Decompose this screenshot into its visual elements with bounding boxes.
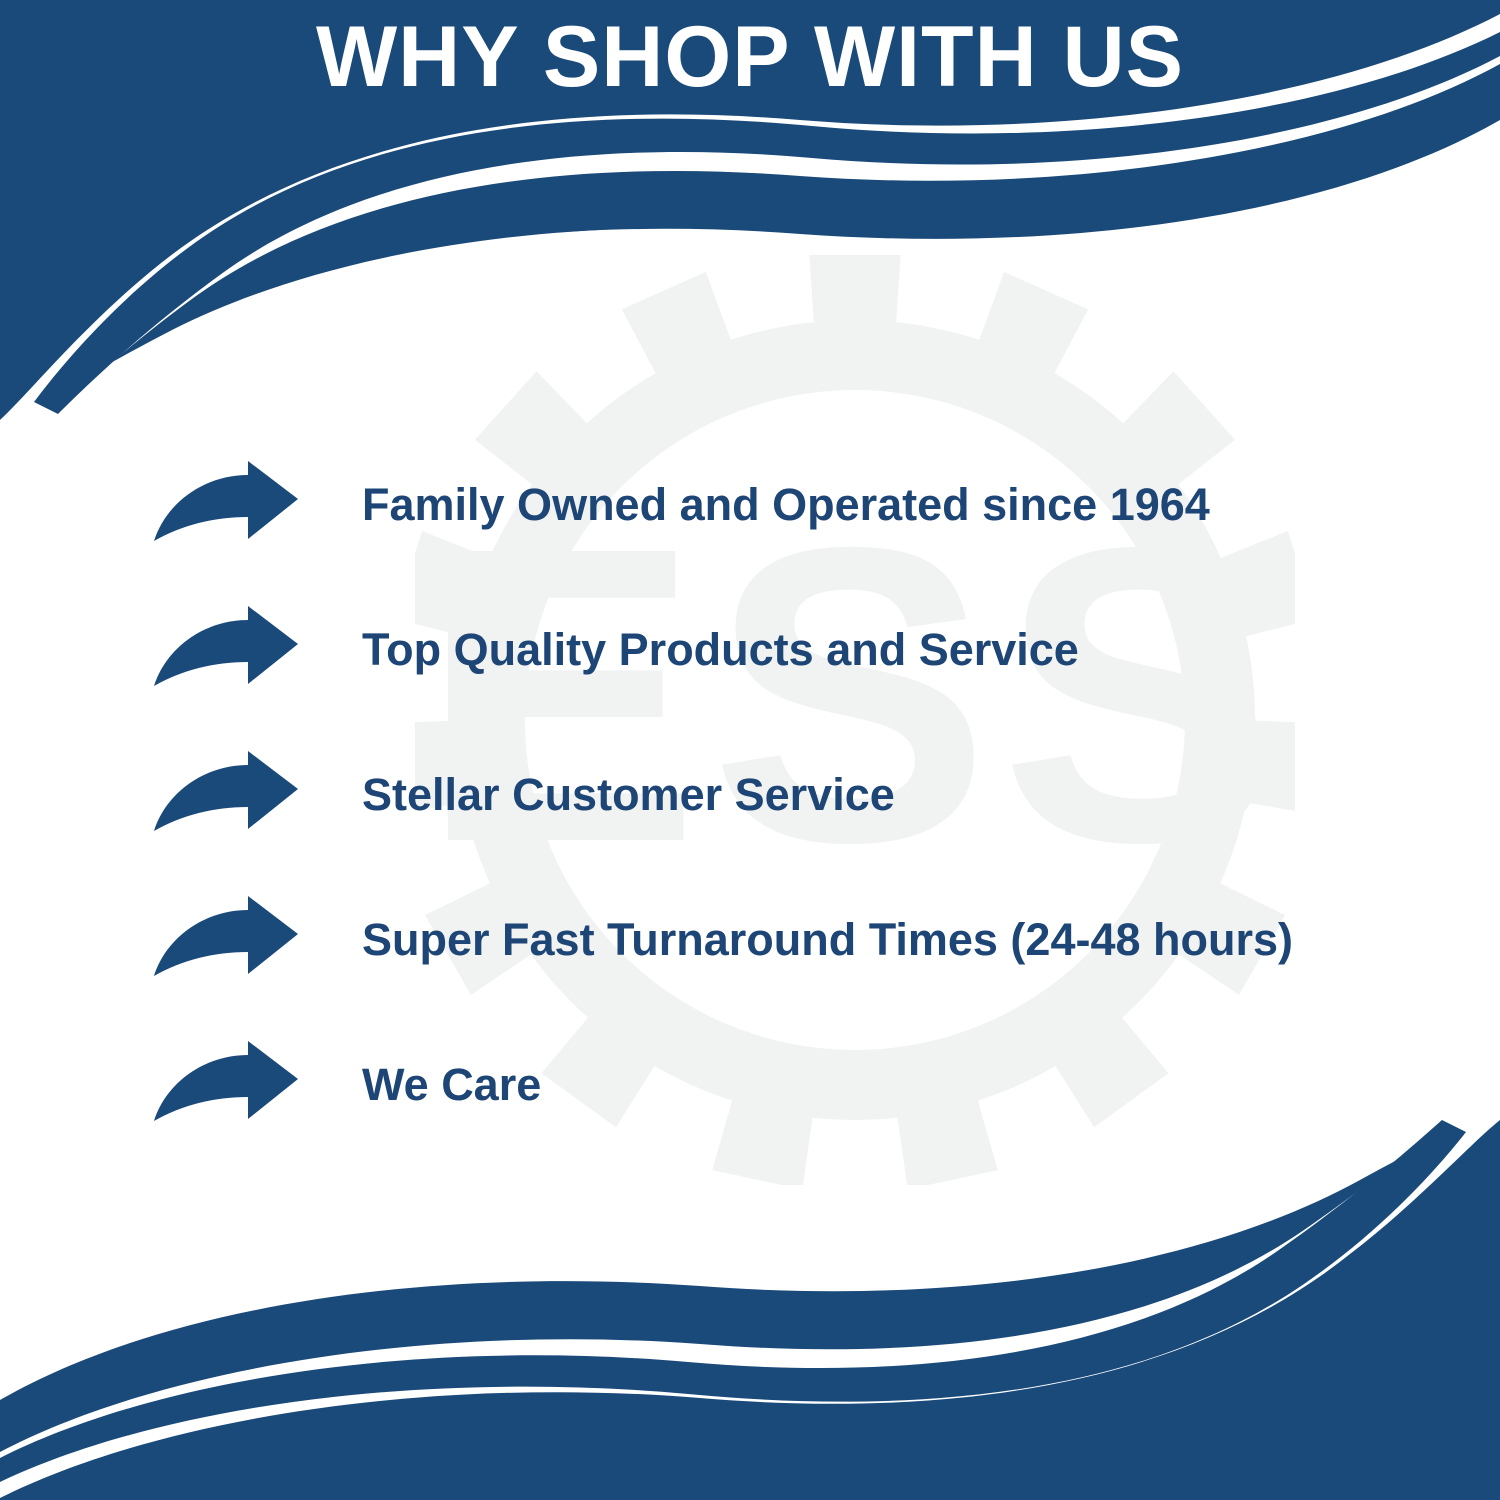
curved-arrow-right-icon xyxy=(152,894,300,986)
curved-arrow-right-icon xyxy=(152,1039,300,1131)
curved-arrow-right-icon xyxy=(152,749,300,841)
page-title: WHY SHOP WITH US xyxy=(0,14,1500,100)
list-item: Family Owned and Operated since 1964 xyxy=(0,432,1500,577)
curved-arrow-right-icon xyxy=(152,459,300,551)
list-item-label: Super Fast Turnaround Times (24-48 hours… xyxy=(362,916,1293,963)
list-item: Top Quality Products and Service xyxy=(0,577,1500,722)
list-item-label: We Care xyxy=(362,1061,541,1108)
benefits-list: Family Owned and Operated since 1964 Top… xyxy=(0,432,1500,1157)
list-item-label: Family Owned and Operated since 1964 xyxy=(362,481,1210,528)
footer-wave-decoration xyxy=(0,1120,1500,1500)
footer-accent-sliver xyxy=(0,1120,1466,1482)
list-item-label: Stellar Customer Service xyxy=(362,771,895,818)
footer-blue-body xyxy=(0,1120,1500,1500)
list-item: We Care xyxy=(0,1012,1500,1157)
list-item: Stellar Customer Service xyxy=(0,722,1500,867)
list-item: Super Fast Turnaround Times (24-48 hours… xyxy=(0,867,1500,1012)
curved-arrow-right-icon xyxy=(152,604,300,696)
why-shop-with-us-poster: ESS WHY SHOP WITH US Family Owned and Op… xyxy=(0,0,1500,1500)
list-item-label: Top Quality Products and Service xyxy=(362,626,1079,673)
